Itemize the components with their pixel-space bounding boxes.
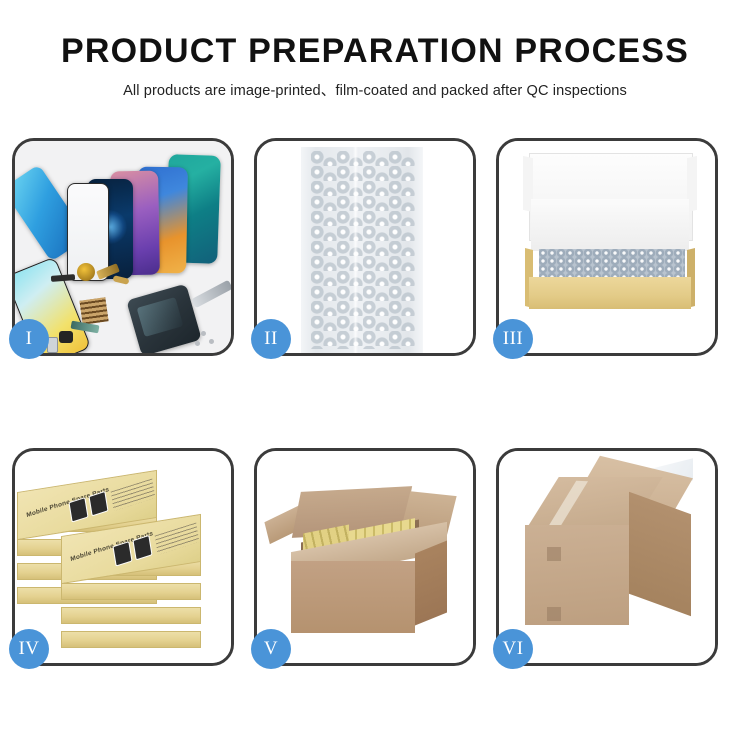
box-phone-graphic [68, 497, 88, 523]
step-4-illustration: Mobile Phone Spare Parts Mobile Phone Sp… [15, 451, 231, 663]
connector-grid-icon [79, 297, 108, 324]
screw-icon [201, 331, 206, 336]
foam-padding [531, 199, 689, 251]
step-badge-4: IV [9, 629, 49, 669]
screw-icon [195, 341, 200, 346]
box-phone-graphic [112, 541, 132, 567]
process-step-panel-6: VI [496, 448, 718, 666]
step-2-illustration [257, 141, 473, 353]
camera-module-icon [59, 331, 73, 343]
carton-front-sealed [525, 525, 629, 625]
bubble-wrap-sheet [301, 147, 423, 353]
header: PRODUCT PREPARATION PROCESS All products… [0, 34, 750, 100]
box-phone-graphic [88, 491, 108, 517]
retail-box-stack: Mobile Phone Spare Parts Mobile Phone Sp… [15, 451, 231, 663]
bubble-texture [311, 151, 415, 349]
process-step-panel-1: I [12, 138, 234, 356]
retail-box [61, 607, 201, 624]
carton-seam-tab [547, 607, 561, 621]
step-3-illustration [499, 141, 715, 353]
step-badge-5: V [251, 629, 291, 669]
page-subtitle: All products are image-printed、film-coat… [0, 79, 750, 100]
carton-side-right [415, 541, 447, 626]
step-6-illustration [499, 451, 715, 663]
process-step-panel-2: II [254, 138, 476, 356]
retail-box [61, 583, 201, 600]
step-badge-1: I [9, 319, 49, 359]
box-front-kraft [529, 277, 691, 309]
process-step-panel-3: III [496, 138, 718, 356]
screw-icon [209, 339, 214, 344]
bubble-wrapped-contents [539, 249, 685, 279]
carton-seam-tab [547, 547, 561, 561]
box-spec-lines [111, 479, 156, 511]
process-step-panel-4: Mobile Phone Spare Parts Mobile Phone Sp… [12, 448, 234, 666]
carton-side [629, 492, 691, 617]
earpiece-mesh-icon [51, 274, 75, 282]
box-spec-lines [155, 523, 200, 555]
process-step-panel-5: V [254, 448, 476, 666]
step-1-illustration [15, 141, 231, 353]
retail-box [61, 631, 201, 648]
step-badge-6: VI [493, 629, 533, 669]
box-phone-graphic [132, 535, 152, 561]
step-badge-2: II [251, 319, 291, 359]
page-title: PRODUCT PREPARATION PROCESS [0, 34, 750, 70]
process-step-grid: I II III [12, 138, 738, 666]
product-preparation-infographic: PRODUCT PREPARATION PROCESS All products… [0, 0, 750, 750]
phone-chassis-teardown [126, 284, 202, 353]
step-5-illustration [257, 451, 473, 663]
tweezers-icon [191, 280, 231, 309]
carton-front [291, 561, 415, 633]
step-badge-3: III [493, 319, 533, 359]
speaker-module-icon [77, 263, 95, 281]
wrap-seam [353, 147, 358, 353]
